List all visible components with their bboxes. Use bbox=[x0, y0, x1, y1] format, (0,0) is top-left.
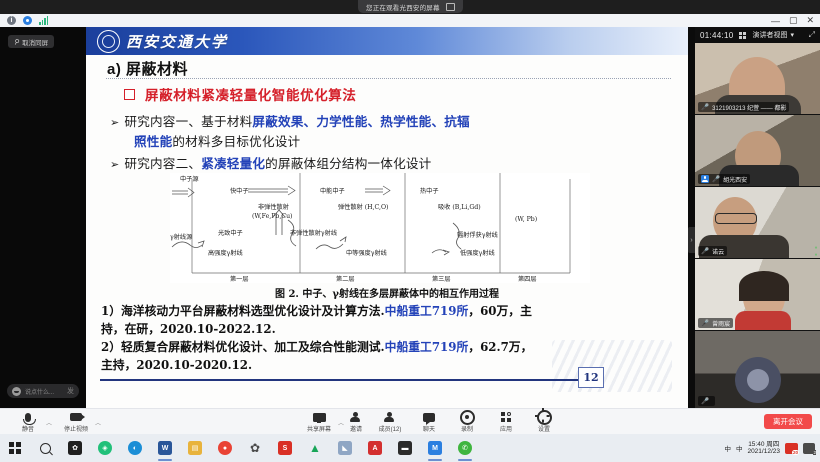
apps-button[interactable]: 应用 bbox=[486, 411, 526, 433]
bullet-1-lead: 研究内容一、基于材料 bbox=[124, 114, 252, 129]
slide-page-number: 12 bbox=[578, 367, 604, 388]
item-2-amount: ，62.7万， bbox=[468, 340, 532, 354]
app-icon-word[interactable]: W bbox=[150, 434, 180, 462]
project-item-2-line2: 主持，2020.10-2020.12. bbox=[101, 356, 252, 373]
bullet-2-rest: 的屏蔽体组分结构一体化设计 bbox=[265, 156, 431, 171]
microphone-muted-icon: 🎤 bbox=[701, 397, 709, 405]
leave-meeting-button[interactable]: 离开会议 bbox=[764, 414, 812, 429]
participant-name: 🎤 曾雨宸 bbox=[698, 318, 733, 328]
search-icon[interactable] bbox=[30, 434, 60, 462]
participant-tile[interactable]: 🎤 3121903213 纪萱 —— 都影 bbox=[695, 43, 820, 114]
tray-lang[interactable]: 中 bbox=[736, 443, 743, 453]
notif-count: 2 bbox=[813, 450, 816, 455]
bullet-1-emph: 屏蔽效果、力学性能、热学性能、抗辐 bbox=[252, 114, 470, 129]
svg-text:第四层: 第四层 bbox=[518, 275, 537, 283]
svg-text:非弹性散射γ射线: 非弹性散射γ射线 bbox=[290, 229, 337, 237]
item-1-org: 中船重工719所 bbox=[385, 304, 469, 318]
microphone-active-icon: 🎤 bbox=[712, 175, 720, 183]
camera-icon bbox=[70, 411, 82, 423]
svg-text:第二层: 第二层 bbox=[336, 275, 355, 283]
university-seal-icon bbox=[97, 30, 120, 53]
share-screen-button[interactable]: 共享屏幕 bbox=[299, 411, 339, 433]
send-button[interactable]: 发 bbox=[67, 386, 74, 396]
record-label: 录制 bbox=[461, 424, 473, 433]
tile-side-text: ●●● bbox=[813, 245, 819, 258]
svg-text:(W,Fe,Pb,Cu): (W,Fe,Pb,Cu) bbox=[252, 213, 292, 220]
participant-tile[interactable]: 🎤 正在讲话: 胡光西安 🎤 胡光西安 bbox=[695, 115, 820, 186]
system-status-bar: i bbox=[0, 14, 820, 27]
participant-name-text: 诺云 bbox=[712, 247, 724, 256]
meeting-toolbar: 静音 ︿ 停止视频 ︿ 共享屏幕 ︿ 邀请 成员(12) 聊天 录制 bbox=[0, 408, 820, 435]
share-screen-icon bbox=[313, 411, 326, 423]
toast-label: 您正在观看光西安的屏幕 bbox=[366, 2, 440, 12]
participant-name: 🎤 诺云 bbox=[698, 246, 727, 256]
close-button[interactable]: ✕ bbox=[806, 15, 814, 26]
university-name: 西安交通大学 bbox=[126, 31, 228, 52]
chat-input[interactable]: 说点什么... bbox=[25, 387, 54, 396]
record-indicator-icon[interactable] bbox=[23, 16, 32, 25]
bullet-1-line2-rest: 的材料多目标优化设计 bbox=[172, 134, 300, 149]
participants-icon bbox=[384, 411, 397, 423]
app-icon-gear[interactable]: ✿ bbox=[240, 434, 270, 462]
participant-tile[interactable]: ●●● 🎤 诺云 bbox=[695, 187, 820, 258]
settings-button[interactable]: 设置 bbox=[524, 411, 564, 433]
bullet-1-line2: 照性能的材料多目标优化设计 bbox=[134, 131, 300, 150]
left-panel: ⚲ 取消同屏 说点什么... 发 bbox=[0, 27, 86, 408]
slide-banner: 西安交通大学 bbox=[86, 27, 688, 55]
svg-text:第一层: 第一层 bbox=[230, 275, 249, 283]
windows-taskbar: ✿ ◈ ◐ W ▤ ● ✿ S ▲ ◣ A ▬ M ✆ 中 中 15:40 周四… bbox=[0, 434, 820, 462]
meeting-timer: 01:44:10 bbox=[700, 31, 734, 40]
svg-text:第三层: 第三层 bbox=[432, 275, 451, 283]
tencent-meeting-window: 您正在观看光西安的屏幕 i — ▢ ✕ ⚲ 取消同屏 说点什么... 发 bbox=[0, 0, 820, 462]
arrow-bullet-icon-2: ➢ bbox=[110, 158, 119, 171]
expand-icon[interactable]: ⤢ bbox=[809, 30, 815, 40]
item-2-text: 2）轻质复合屏蔽材料优化设计、加工及综合性能测试. bbox=[101, 340, 385, 354]
maximize-button[interactable]: ▢ bbox=[789, 15, 798, 26]
app-icon-cloud[interactable]: ◈ bbox=[90, 434, 120, 462]
app-icon-wps[interactable]: S bbox=[270, 434, 300, 462]
neutron-shielding-diagram: 中子源 γ射线源 快中子 中能中子 热中子 非弹性散射 (W,Fe,Pb,Cu)… bbox=[170, 173, 590, 283]
svg-text:高强度γ射线: 高强度γ射线 bbox=[208, 249, 243, 257]
svg-text:热中子: 热中子 bbox=[420, 187, 439, 195]
svg-text:光致中子: 光致中子 bbox=[218, 229, 243, 237]
svg-text:吸收 (B,Li,Gd): 吸收 (B,Li,Gd) bbox=[438, 203, 481, 211]
bullet-1: ➢研究内容一、基于材料屏蔽效果、力学性能、热学性能、抗辐 bbox=[110, 111, 470, 130]
figure-caption: 图 2. 中子、γ射线在多层屏蔽体中的相互作用过程 bbox=[86, 285, 688, 300]
camera-options-caret-icon[interactable]: ︿ bbox=[95, 418, 101, 427]
chevron-down-icon: ▾ bbox=[791, 31, 795, 39]
system-tray: 中 中 15:40 周四 2021/12/23 20 2 bbox=[724, 441, 820, 456]
svg-text:弹性散射 (H,C,O): 弹性散射 (H,C,O) bbox=[338, 203, 388, 211]
top-strip: 您正在观看光西安的屏幕 bbox=[0, 0, 820, 14]
windows-start-icon[interactable] bbox=[0, 434, 30, 462]
view-label: 演讲者视图 bbox=[753, 30, 788, 40]
red-title: 屏蔽材料紧凑轻量化智能优化算法 bbox=[145, 84, 357, 104]
tray-ime[interactable]: 中 bbox=[724, 443, 731, 453]
screen-icon bbox=[446, 3, 455, 11]
participants-label: 成员(12) bbox=[379, 424, 402, 433]
microphone-icon bbox=[25, 411, 31, 423]
bullet-2-lead: 研究内容二、 bbox=[124, 156, 201, 171]
participant-tile[interactable]: 🎤 bbox=[695, 331, 820, 408]
svg-text:γ射线源: γ射线源 bbox=[170, 233, 192, 241]
share-screen-label: 共享屏幕 bbox=[307, 424, 331, 433]
project-item-1-line2: 持，在研，2020.10-2022.12. bbox=[101, 320, 276, 337]
app-icon-chrome[interactable]: ● bbox=[210, 434, 240, 462]
clock-date: 2021/12/23 bbox=[747, 448, 780, 455]
app-icon-meeting[interactable]: M bbox=[420, 434, 450, 462]
view-selector[interactable]: 演讲者视图 ▾ bbox=[753, 30, 795, 40]
svg-text:非弹性散射: 非弹性散射 bbox=[258, 203, 289, 211]
apps-icon bbox=[501, 411, 512, 423]
bullet-2: ➢研究内容二、紧凑轻量化的屏蔽体组分结构一体化设计 bbox=[110, 153, 431, 172]
rail-header: 01:44:10 演讲者视图 ▾ ⤢ bbox=[695, 27, 820, 43]
user-avatar-icon bbox=[701, 175, 709, 183]
emoji-icon[interactable] bbox=[12, 387, 21, 396]
info-icon[interactable]: i bbox=[7, 16, 16, 25]
apps-label: 应用 bbox=[500, 424, 512, 433]
meeting-body: ⚲ 取消同屏 说点什么... 发 西安交通大学 a) 屏蔽材料 屏蔽材 bbox=[0, 27, 820, 408]
svg-text:中等强度γ射线: 中等强度γ射线 bbox=[346, 249, 387, 257]
invite-icon bbox=[350, 411, 363, 423]
bullet-1-line2-emph: 照性能 bbox=[134, 134, 172, 149]
microphone-muted-icon: 🎤 bbox=[701, 247, 709, 255]
participant-name: 🎤 3121903213 纪萱 —— 都影 bbox=[698, 102, 789, 112]
svg-text:辐射俘获γ射线: 辐射俘获γ射线 bbox=[457, 231, 498, 239]
chat-icon bbox=[423, 411, 435, 423]
record-icon bbox=[460, 411, 475, 423]
item-2-org: 中船重工719所 bbox=[385, 340, 469, 354]
svg-text:(W, Pb): (W, Pb) bbox=[515, 216, 537, 223]
pin-icon: ⚲ bbox=[12, 37, 20, 46]
participants-button[interactable]: 成员(12) bbox=[370, 411, 410, 433]
stop-video-label: 停止视频 bbox=[64, 424, 88, 433]
arrow-bullet-icon: ➢ bbox=[110, 116, 119, 129]
app-icon-paper[interactable]: ◣ bbox=[330, 434, 360, 462]
heading-divider bbox=[106, 78, 671, 79]
shared-screen-slide[interactable]: 西安交通大学 a) 屏蔽材料 屏蔽材料紧凑轻量化智能优化算法 ➢研究内容一、基于… bbox=[86, 27, 688, 408]
notification-badge-icon[interactable]: 20 bbox=[785, 443, 798, 454]
svg-text:中子源: 中子源 bbox=[180, 175, 199, 183]
microphone-muted-icon: 🎤 bbox=[701, 319, 709, 327]
square-bullet-icon bbox=[124, 89, 135, 100]
mic-options-caret-icon[interactable]: ︿ bbox=[46, 418, 52, 427]
network-signal-icon bbox=[39, 16, 48, 25]
screen-share-toast: 您正在观看光西安的屏幕 bbox=[358, 0, 463, 13]
watermark bbox=[552, 340, 672, 392]
record-button[interactable]: 录制 bbox=[447, 411, 487, 433]
app-icon-delta[interactable]: ▲ bbox=[300, 434, 330, 462]
microphone-muted-icon: 🎤 bbox=[701, 103, 709, 111]
view-layout-icon[interactable] bbox=[739, 32, 746, 39]
window-controls: — ▢ ✕ bbox=[771, 14, 814, 27]
app-icon-mesh[interactable]: ✿ bbox=[60, 434, 90, 462]
app-icon-wechat[interactable]: ✆ bbox=[450, 434, 480, 462]
participant-name-text: 曾雨宸 bbox=[712, 319, 730, 328]
collapse-rail-button[interactable]: › bbox=[688, 227, 695, 253]
badge-count: 20 bbox=[792, 450, 799, 455]
pin-label: 取消同屏 bbox=[22, 37, 48, 47]
clock-time: 15:40 周四 bbox=[747, 441, 780, 448]
project-item-2: 2）轻质复合屏蔽材料优化设计、加工及综合性能测试.中船重工719所，62.7万， bbox=[101, 338, 532, 355]
minimize-button[interactable]: — bbox=[771, 16, 780, 26]
svg-text:中能中子: 中能中子 bbox=[320, 187, 345, 195]
chat-label: 聊天 bbox=[423, 424, 435, 433]
unpin-button[interactable]: ⚲ 取消同屏 bbox=[8, 35, 54, 48]
mute-button[interactable]: 静音 bbox=[8, 411, 48, 433]
bullet-2-emph: 紧凑轻量化 bbox=[201, 156, 265, 171]
svg-text:低强度γ射线: 低强度γ射线 bbox=[460, 249, 495, 257]
participant-rail: 01:44:10 演讲者视图 ▾ ⤢ 🎤 3121903213 纪萱 —— 都影 bbox=[695, 27, 820, 408]
participant-name: 🎤 bbox=[698, 396, 715, 406]
project-item-1: 1）海洋核动力平台屏蔽材料选型优化设计及计算方法.中船重工719所，60万，主 bbox=[101, 302, 532, 319]
mute-label: 静音 bbox=[22, 424, 34, 433]
participant-name: 🎤 胡光西安 bbox=[698, 174, 750, 184]
taskbar-clock[interactable]: 15:40 周四 2021/12/23 bbox=[747, 441, 780, 456]
participant-name-text: 3121903213 纪萱 —— 都影 bbox=[712, 103, 786, 112]
app-icon-folder[interactable]: ▤ bbox=[180, 434, 210, 462]
red-title-row: 屏蔽材料紧凑轻量化智能优化算法 bbox=[124, 84, 357, 104]
participant-name-text: 胡光西安 bbox=[723, 175, 747, 184]
slide-heading: a) 屏蔽材料 bbox=[107, 58, 188, 79]
svg-text:快中子: 快中子 bbox=[230, 187, 249, 195]
participant-tile[interactable]: 🎤 曾雨宸 bbox=[695, 259, 820, 330]
stop-video-button[interactable]: 停止视频 bbox=[56, 411, 96, 433]
chat-input-bar[interactable]: 说点什么... 发 bbox=[7, 384, 79, 398]
settings-label: 设置 bbox=[538, 424, 550, 433]
chat-button[interactable]: 聊天 bbox=[409, 411, 449, 433]
item-1-text: 1）海洋核动力平台屏蔽材料选型优化设计及计算方法. bbox=[101, 304, 385, 318]
footer-rule bbox=[100, 379, 580, 381]
invite-label: 邀请 bbox=[350, 424, 362, 433]
app-icon-edge[interactable]: ◐ bbox=[120, 434, 150, 462]
item-1-amount: ，60万，主 bbox=[468, 304, 532, 318]
app-icon-term[interactable]: ▬ bbox=[390, 434, 420, 462]
settings-gear-icon bbox=[537, 411, 552, 423]
action-center-icon[interactable]: 2 bbox=[803, 443, 815, 454]
app-icon-pdf[interactable]: A bbox=[360, 434, 390, 462]
